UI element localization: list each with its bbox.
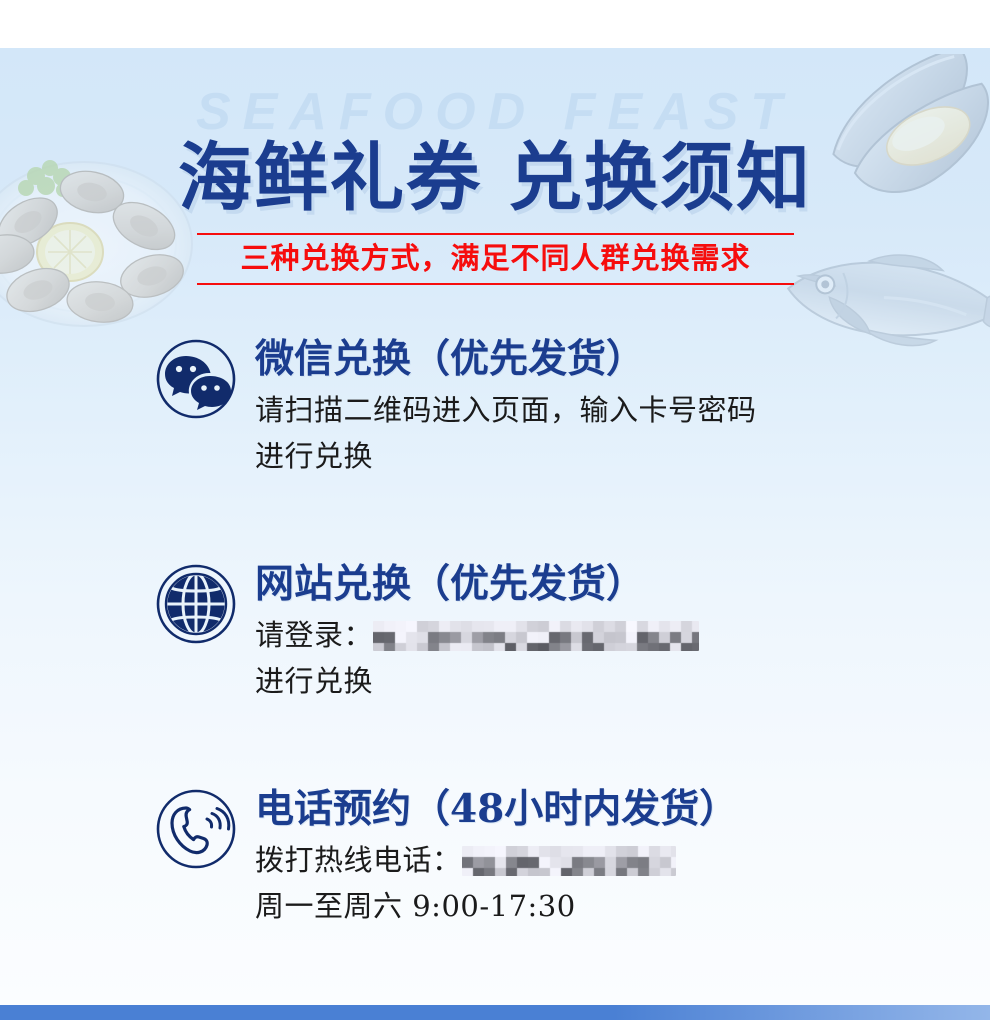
section-phone: 电话预约（48小时内发货） 拨打热线电话： 周一至周六 9:00-17:30: [155, 788, 955, 928]
section-website-line1-prefix: 请登录：: [255, 618, 373, 652]
section-wechat-line2: 进行兑换: [255, 434, 955, 478]
section-wechat: 微信兑换（优先发货） 请扫描二维码进入页面，输入卡号密码 进行兑换: [155, 338, 955, 478]
page-title: 海鲜礼券兑换须知: [0, 118, 990, 225]
top-white-band: [0, 0, 990, 48]
redacted-hotline-number: [462, 846, 676, 876]
subtitle-block: 三种兑换方式，满足不同人群兑换需求: [197, 233, 794, 285]
page-subtitle: 三种兑换方式，满足不同人群兑换需求: [197, 235, 794, 283]
bottom-accent-bar: [0, 1005, 990, 1020]
section-website: 网站兑换（优先发货） 请登录： 进行兑换: [155, 563, 955, 703]
section-wechat-heading: 微信兑换（优先发货）: [255, 338, 955, 382]
subtitle-rule-bottom: [197, 283, 794, 285]
wechat-icon: [155, 338, 237, 420]
promo-page: SEAFOOD FEAST 海鲜礼券兑换须知 三种兑换方式，满足不同人群兑换需求…: [0, 0, 990, 1020]
page-title-part2: 兑换须知: [508, 135, 812, 221]
section-website-line2: 进行兑换: [255, 659, 955, 703]
phone-icon: [155, 788, 237, 870]
section-wechat-body: 微信兑换（优先发货） 请扫描二维码进入页面，输入卡号密码 进行兑换: [255, 338, 955, 478]
section-wechat-line1: 请扫描二维码进入页面，输入卡号密码: [255, 388, 955, 432]
section-phone-body: 电话预约（48小时内发货） 拨打热线电话： 周一至周六 9:00-17:30: [255, 788, 955, 928]
section-phone-line1-prefix: 拨打热线电话：: [255, 843, 462, 877]
section-website-body: 网站兑换（优先发货） 请登录： 进行兑换: [255, 563, 955, 703]
section-phone-line1: 拨打热线电话：: [255, 838, 955, 882]
globe-icon: [155, 563, 237, 645]
section-website-line1: 请登录：: [255, 613, 955, 657]
page-title-part1: 海鲜礼券: [178, 135, 482, 221]
redacted-website-url: [373, 621, 699, 651]
section-phone-heading: 电话预约（48小时内发货）: [255, 788, 955, 832]
section-phone-line2: 周一至周六 9:00-17:30: [255, 884, 955, 928]
section-website-heading: 网站兑换（优先发货）: [255, 563, 955, 607]
